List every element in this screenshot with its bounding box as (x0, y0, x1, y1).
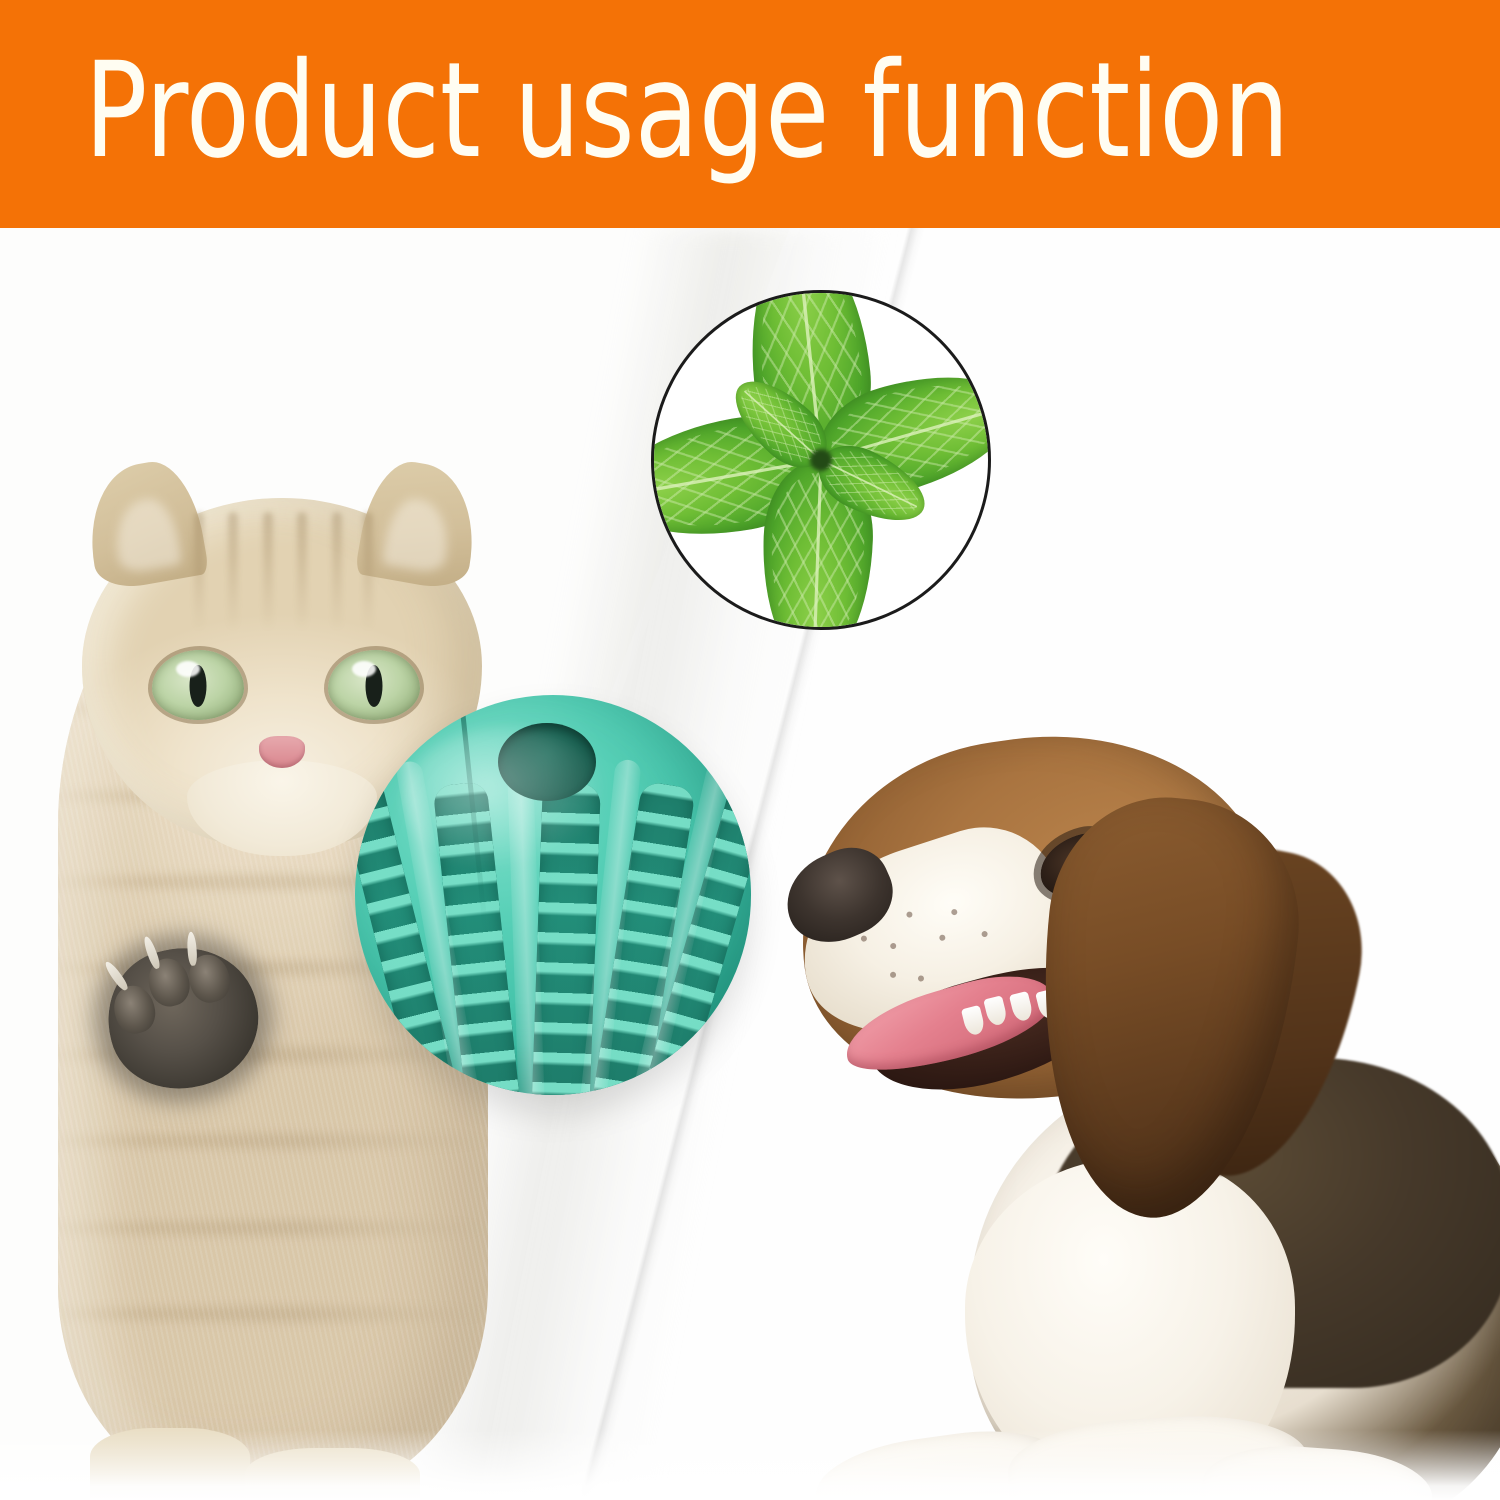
page-title: Product usage function (0, 45, 1289, 177)
cat-forehead-stripes (186, 512, 378, 631)
header-banner: Product usage function (0, 0, 1500, 228)
cat-eye-left (152, 650, 244, 720)
cat-front-leg-right (245, 1448, 420, 1500)
dog-photo (740, 728, 1500, 1500)
cat-front-leg-left (90, 1428, 250, 1500)
dental-treat-ball (355, 695, 751, 1095)
mint-stem-center (810, 449, 832, 471)
dog-front-legs (820, 1418, 1420, 1500)
product-usage-poster: Product usage function (0, 0, 1500, 1500)
cat-eye-right (328, 650, 420, 720)
mint-leaves-badge (651, 290, 991, 630)
ball-highlight (403, 727, 609, 871)
photo-stage (0, 228, 1500, 1500)
